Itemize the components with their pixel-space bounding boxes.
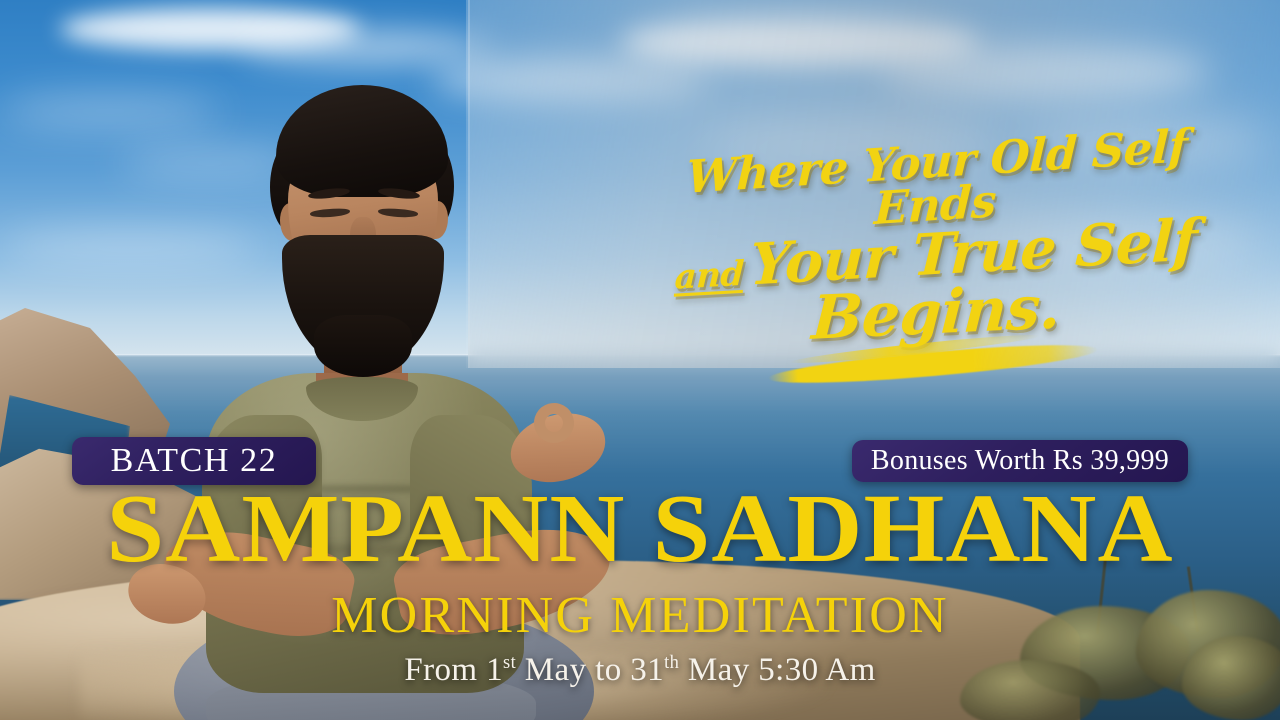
tagline-and: and bbox=[674, 254, 745, 298]
hair bbox=[276, 85, 448, 197]
schedule-line: From 1st May to 31th May 5:30 Am bbox=[0, 652, 1280, 689]
promo-poster: Where Your Old Self Ends andYour True Se… bbox=[0, 0, 1280, 720]
schedule-time: 5:30 Am bbox=[758, 652, 875, 688]
schedule-end-ordinal: th bbox=[664, 652, 679, 672]
cloud bbox=[240, 30, 490, 64]
schedule-connector: to bbox=[595, 652, 621, 688]
beard-chin bbox=[314, 315, 412, 377]
schedule-end-month: May bbox=[688, 652, 750, 688]
schedule-start-day: 1 bbox=[486, 652, 503, 688]
main-title: SAMPANN SADHANA bbox=[0, 482, 1280, 576]
schedule-start-ordinal: st bbox=[503, 652, 516, 672]
schedule-end-day: 31 bbox=[630, 652, 664, 688]
schedule-start-month: May bbox=[525, 652, 587, 688]
sub-title: MORNING MEDITATION bbox=[0, 586, 1280, 645]
frosted-panel-edge bbox=[466, 0, 470, 368]
schedule-prefix: From bbox=[404, 652, 477, 688]
